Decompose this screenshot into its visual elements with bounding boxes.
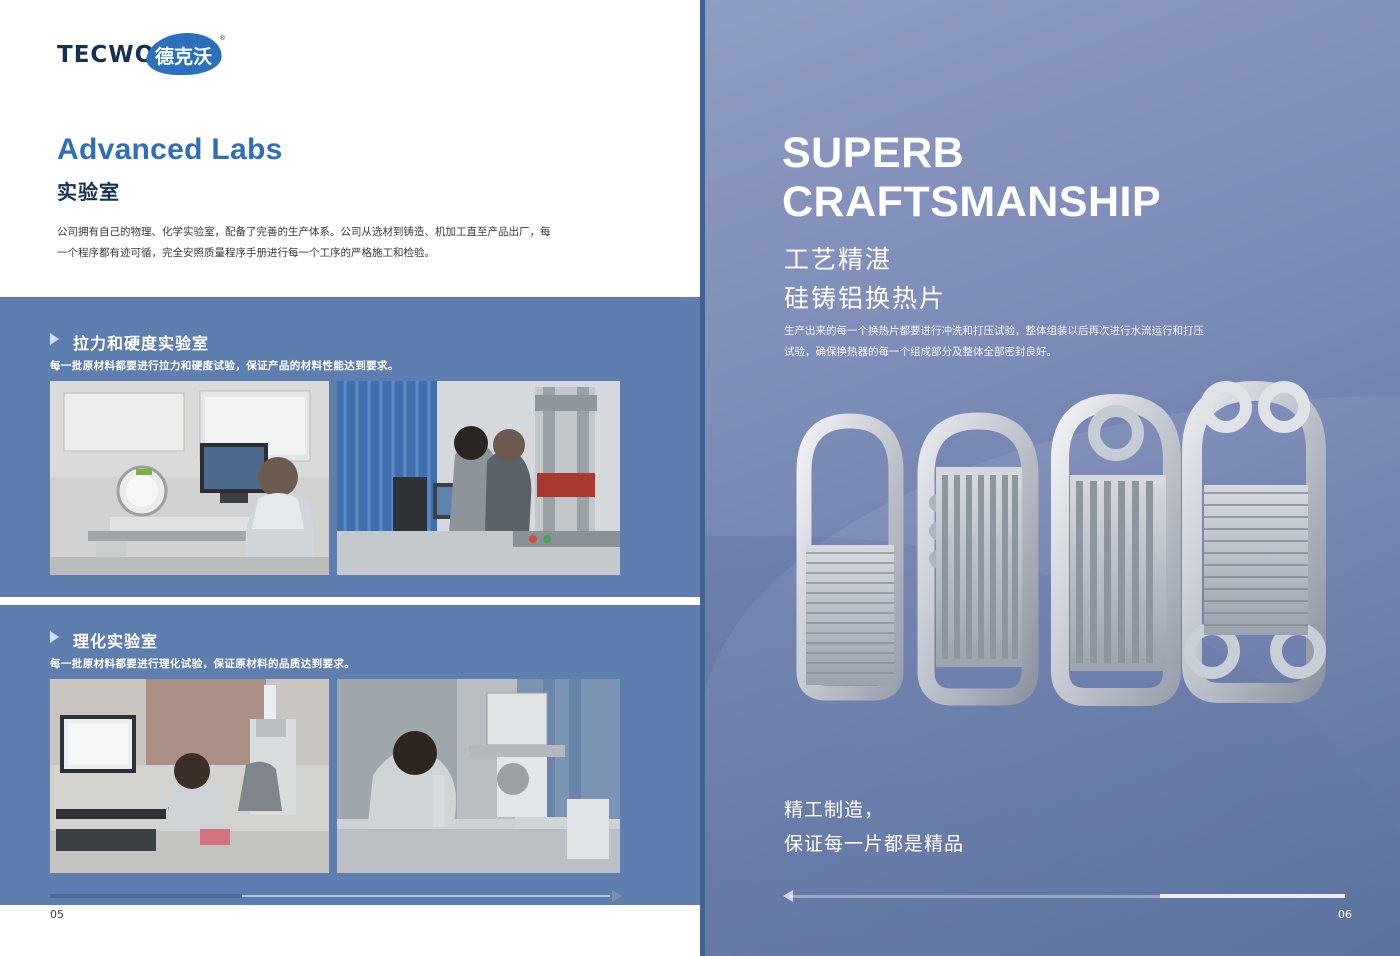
photo-physchem-lab-1-art: [50, 679, 329, 873]
section-subtitle-1: 每一批原材料都要进行拉力和硬度试验，保证产品的材料性能达到要求。: [50, 358, 399, 373]
left-page: TECWOO 德克沃 ® Advanced Labs 实验室 公司拥有自己的物理…: [0, 0, 700, 956]
right-title-en-line1: SUPERB: [782, 131, 964, 175]
page-number-right: 06: [1338, 908, 1352, 921]
registered-icon: ®: [220, 35, 225, 42]
photo-physchem-lab-2: [337, 679, 620, 873]
section-title-2: 理化实验室: [73, 628, 158, 652]
page-gutter-edge: [700, 0, 705, 956]
brand-logo-cn: 德克沃: [155, 42, 212, 69]
photo-physchem-lab-2-art: [337, 679, 620, 873]
page-title-en: Advanced Labs: [57, 133, 283, 167]
photo-physchem-lab-1: [50, 679, 329, 873]
page-title-cn: 实验室: [57, 176, 120, 205]
plate-3: [1060, 403, 1172, 697]
photo-tensile-lab-2: [337, 381, 620, 575]
right-footer-line1: 精工制造，: [784, 795, 884, 822]
left-progress-fill: [50, 894, 242, 898]
brochure-spread: TECWOO 德克沃 ® Advanced Labs 实验室 公司拥有自己的物理…: [0, 0, 1400, 956]
right-progress-fill: [1160, 894, 1345, 898]
triangle-bullet-icon-1: [50, 333, 59, 345]
right-title-cn-line1: 工艺精湛: [784, 240, 892, 276]
brand-logo: TECWOO 德克沃 ®: [57, 33, 222, 75]
plate-2: [926, 421, 1030, 697]
intro-paragraph: 公司拥有自己的物理、化学实验室，配备了完善的生产体系。公司从选材到铸造、机加工直…: [57, 222, 557, 264]
photo-tensile-lab-1-art: [50, 381, 329, 575]
page-number-left: 05: [50, 908, 64, 921]
product-heat-exchanger-plates: [760, 355, 1400, 775]
plate-1: [804, 421, 896, 693]
right-title-cn-line2: 硅铸铝换热片: [784, 279, 946, 315]
brand-logo-badge: 德克沃 ®: [147, 33, 222, 75]
left-progress-bar[interactable]: [50, 894, 620, 898]
right-description: 生产出来的每一个换热片都要进行冲洗和打压试验，整体组装以后再次进行水流运行和打压…: [784, 321, 1204, 363]
photo-tensile-lab-2-art: [337, 381, 620, 575]
photo-tensile-lab-1: [50, 381, 329, 575]
section-title-1: 拉力和硬度实验室: [73, 330, 209, 354]
right-title-en-line2: CRAFTSMANSHIP: [782, 180, 1161, 224]
arrow-right-icon[interactable]: [612, 890, 622, 902]
plate-4: [1190, 387, 1320, 693]
right-footer-line2: 保证每一片都是精品: [784, 829, 964, 856]
section-subtitle-2: 每一批原材料都要进行理化试验，保证原材料的品质达到要求。: [50, 656, 355, 671]
triangle-bullet-icon-2: [50, 631, 59, 643]
